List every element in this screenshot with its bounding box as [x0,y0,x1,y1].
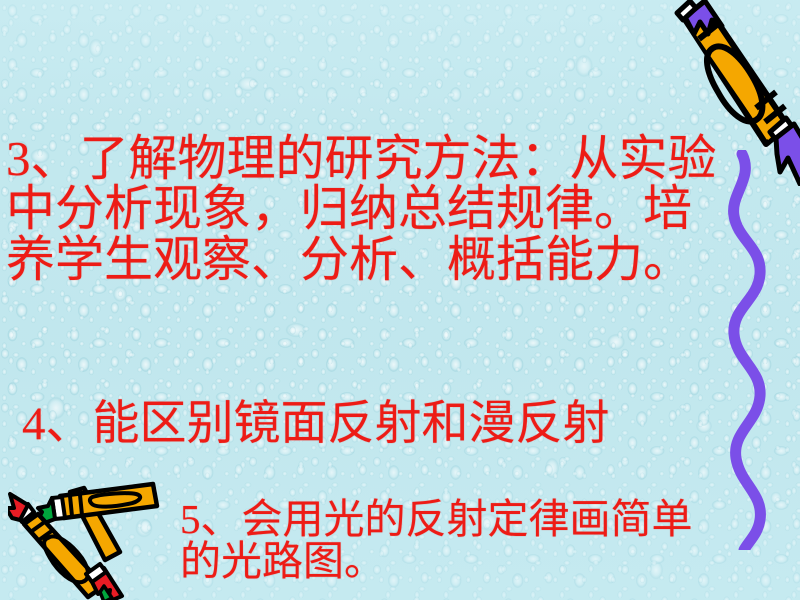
objective-item-3: 3、了解物理的研究方法：从实验中分析现象，归纳总结规律。培养学生观察、分析、概括… [6,134,718,285]
objective-item-5: 5、会用光的反射定律画简单的光路图。 [180,498,720,582]
presentation-slide: 3、了解物理的研究方法：从实验中分析现象，归纳总结规律。培养学生观察、分析、概括… [0,0,800,600]
objective-item-4: 4、能区别镜面反射和漫反射 [22,400,722,448]
slide-text-layer: 3、了解物理的研究方法：从实验中分析现象，归纳总结规律。培养学生观察、分析、概括… [0,0,800,600]
